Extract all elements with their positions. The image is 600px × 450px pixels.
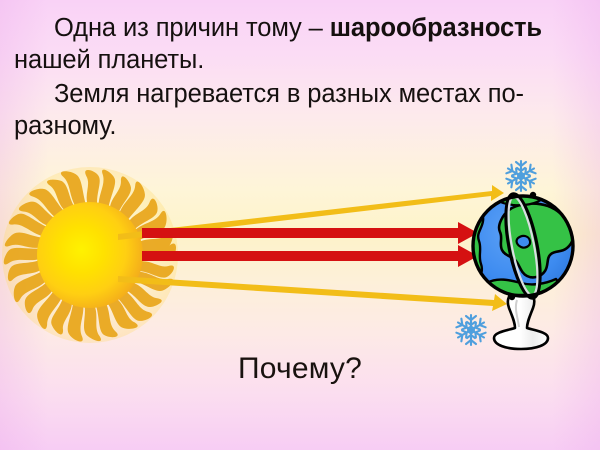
slide-body-text: Одна из причин тому – шарообразность наш… — [14, 12, 590, 144]
globe-icon — [468, 191, 574, 349]
snowflake-top-right-icon — [506, 161, 537, 191]
lower-yellow-ray — [118, 276, 507, 311]
sun-disc — [37, 202, 143, 308]
paragraph-2: Земля нагревается в разных местах по-раз… — [14, 78, 590, 142]
paragraph-1-suffix: нашей планеты. — [14, 46, 204, 74]
snowflake-bottom-left-icon — [456, 315, 487, 345]
upper-red-ray — [142, 222, 478, 244]
question-text: Почему? — [0, 352, 600, 386]
paragraph-1-prefix: Одна из причин тому – — [54, 14, 330, 42]
slide: Одна из причин тому – шарообразность наш… — [0, 0, 600, 450]
paragraph-1: Одна из причин тому – шарообразность наш… — [14, 12, 590, 76]
globe-stand — [494, 289, 548, 349]
paragraph-1-bold-term: шарообразность — [330, 14, 542, 42]
lower-red-ray — [142, 245, 478, 267]
